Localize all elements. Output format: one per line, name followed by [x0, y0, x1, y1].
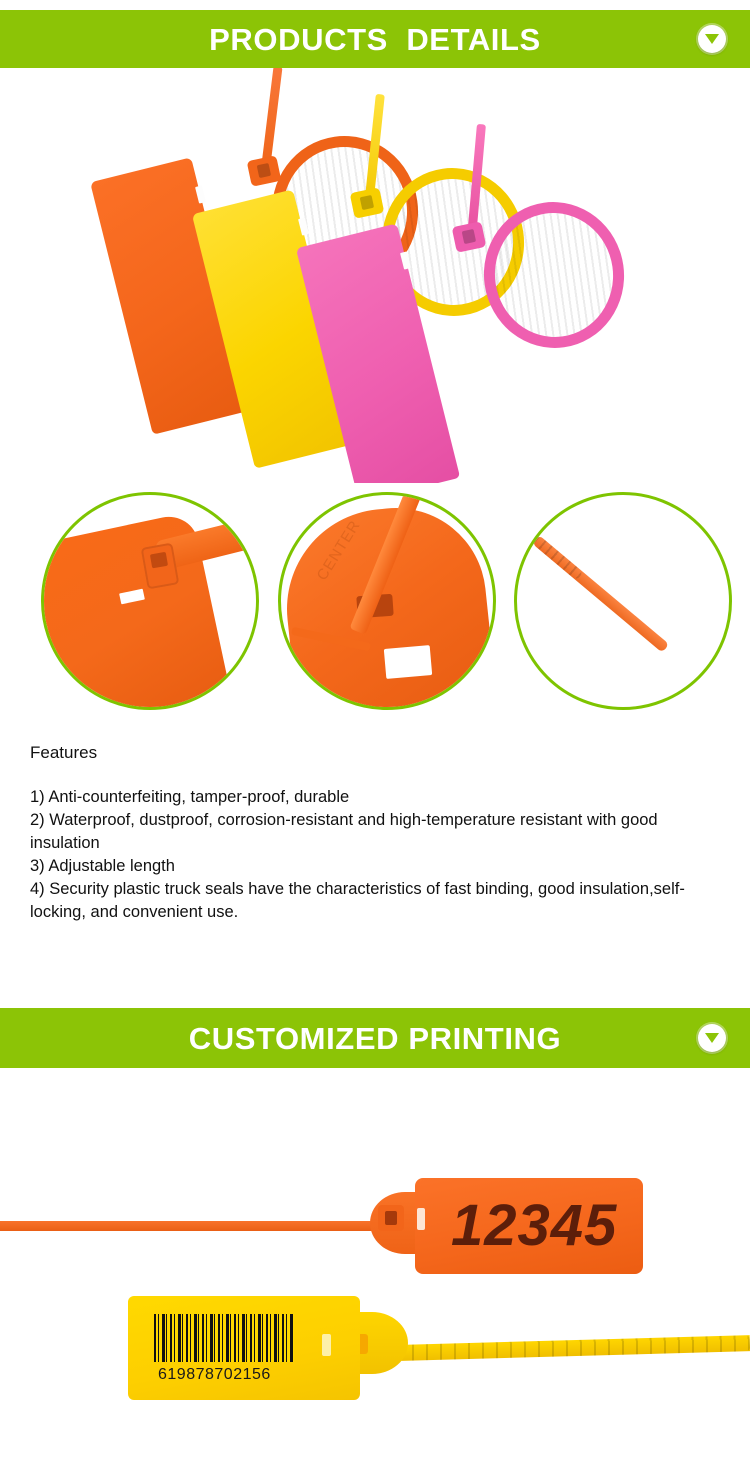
barcode-number: 619878702156 [158, 1366, 271, 1384]
strap-teeth-shape [532, 535, 584, 581]
seal-pink-loop-ribs [487, 205, 621, 344]
barcode-image [154, 1314, 294, 1362]
printed-seal-yellow-tag-slot [322, 1334, 331, 1356]
banner-title-products-details: PRODUCTS DETAILS [209, 24, 541, 55]
printed-seal-orange-tag-slot [417, 1208, 425, 1230]
section-banner-customized-printing[interactable]: CUSTOMIZED PRINTING [0, 1008, 750, 1068]
detail-circle-strap-through-lock-image: CENTER [281, 495, 493, 707]
section-banner-products-details[interactable]: PRODUCTS DETAILS [0, 10, 750, 68]
tag-window-shape [384, 645, 432, 679]
triangle-down-icon[interactable] [698, 25, 726, 53]
printed-seal-orange-tag: 12345 [415, 1178, 643, 1274]
feature-item-3: 3) Adjustable length [30, 855, 730, 878]
banner-title-customized-printing: CUSTOMIZED PRINTING [189, 1023, 562, 1054]
triangle-down-glyph [705, 34, 719, 44]
product-hero-photo [0, 68, 750, 483]
printed-seal-orange-strap [0, 1221, 404, 1231]
triangle-down-icon[interactable] [698, 1024, 726, 1052]
features-block: Features 1) Anti-counterfeiting, tamper-… [30, 742, 730, 924]
detail-circle-locking-head-image [44, 495, 256, 707]
ribbed-strap-shape [532, 535, 669, 653]
printed-tag-number: 12345 [451, 1194, 617, 1258]
detail-circle-strap-through-lock: CENTER [278, 492, 496, 710]
triangle-down-glyph [705, 1033, 719, 1043]
product-detail-page: PRODUCTS DETAILS [0, 0, 750, 1472]
customized-printing-photo [0, 1080, 750, 1472]
detail-photo-row: CENTER [0, 488, 750, 718]
feature-item-2: 2) Waterproof, dustproof, corrosion-resi… [30, 809, 730, 855]
detail-circle-locking-head [41, 492, 259, 710]
feature-item-1: 1) Anti-counterfeiting, tamper-proof, du… [30, 786, 730, 809]
features-heading: Features [30, 742, 730, 764]
detail-circle-ribbed-strap [514, 492, 732, 710]
feature-item-4: 4) Security plastic truck seals have the… [30, 878, 730, 924]
printed-seal-orange-lock-head [378, 1205, 404, 1231]
detail-circle-ribbed-strap-image [517, 495, 729, 707]
